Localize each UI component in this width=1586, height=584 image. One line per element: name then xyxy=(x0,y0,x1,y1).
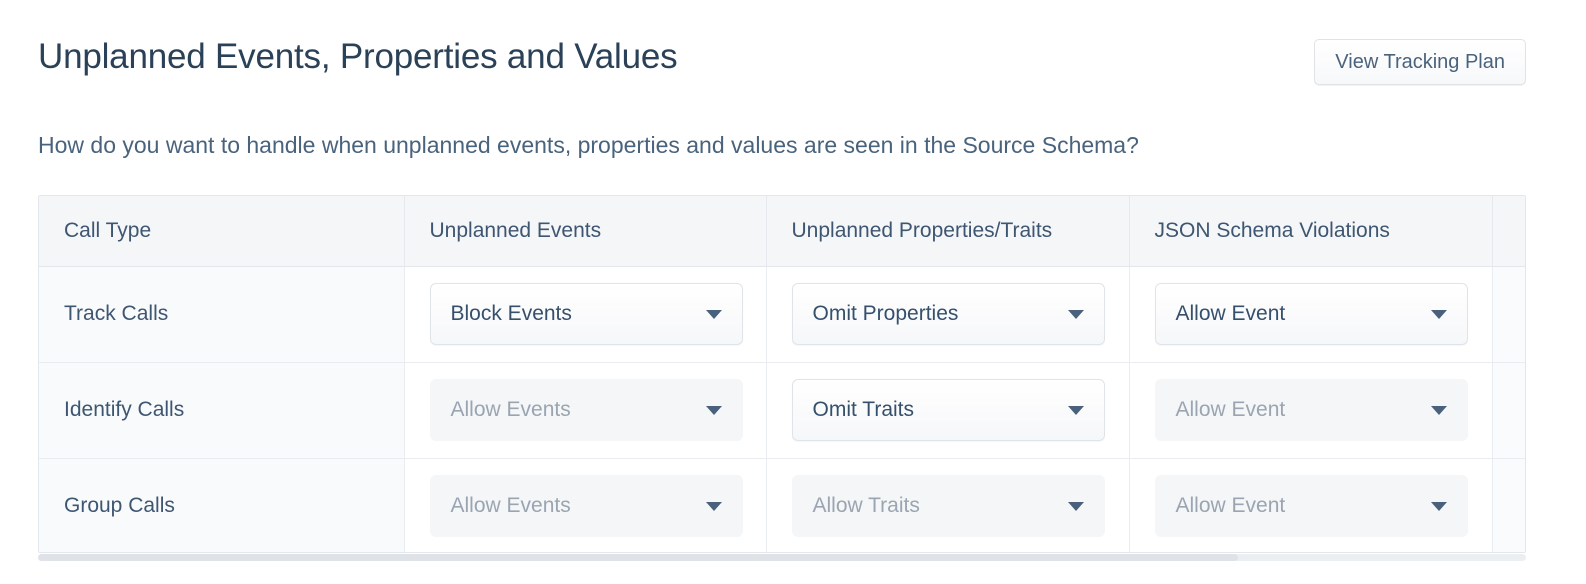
dropdown-track-unplanned-events[interactable]: Block Events xyxy=(430,283,743,345)
table-header: Call Type Unplanned Events Unplanned Pro… xyxy=(39,196,1525,266)
cell-identify-unplanned-properties: Omit Traits xyxy=(766,362,1129,458)
horizontal-scrollbar[interactable] xyxy=(38,554,1526,561)
cell-track-json-schema-violations: Allow Event xyxy=(1129,266,1492,362)
dropdown-identify-unplanned-properties[interactable]: Omit Traits xyxy=(792,379,1105,441)
table-row: Group Calls Allow Events Allow Traits xyxy=(39,458,1525,553)
dropdown-track-unplanned-properties[interactable]: Omit Properties xyxy=(792,283,1105,345)
cell-group-json-schema-violations: Allow Event xyxy=(1129,458,1492,553)
table-row: Identify Calls Allow Events Omit Traits xyxy=(39,362,1525,458)
table-row: Track Calls Block Events Omit Properties xyxy=(39,266,1525,362)
dropdown-track-json-schema-violations[interactable]: Allow Event xyxy=(1155,283,1468,345)
cell-spacer xyxy=(1492,362,1525,458)
dropdown-value: Allow Events xyxy=(451,494,571,518)
dropdown-identify-unplanned-events: Allow Events xyxy=(430,379,743,441)
cell-spacer xyxy=(1492,458,1525,553)
column-header-spacer xyxy=(1492,196,1525,266)
dropdown-value: Allow Event xyxy=(1176,302,1286,326)
page-title: Unplanned Events, Properties and Values xyxy=(38,34,677,80)
dropdown-value: Allow Traits xyxy=(813,494,920,518)
chevron-down-icon xyxy=(1068,310,1084,319)
cell-group-unplanned-properties: Allow Traits xyxy=(766,458,1129,553)
dropdown-value: Allow Event xyxy=(1176,398,1286,422)
chevron-down-icon xyxy=(1431,406,1447,415)
row-label-identify-calls: Identify Calls xyxy=(39,362,404,458)
row-label-track-calls: Track Calls xyxy=(39,266,404,362)
dropdown-value: Omit Properties xyxy=(813,302,959,326)
chevron-down-icon xyxy=(706,310,722,319)
chevron-down-icon xyxy=(1431,502,1447,511)
unplanned-events-settings-page: Unplanned Events, Properties and Values … xyxy=(0,0,1586,584)
page-header: Unplanned Events, Properties and Values … xyxy=(38,34,1526,96)
cell-track-unplanned-events: Block Events xyxy=(404,266,766,362)
chevron-down-icon xyxy=(1068,406,1084,415)
chevron-down-icon xyxy=(706,502,722,511)
dropdown-value: Allow Event xyxy=(1176,494,1286,518)
page-subtitle: How do you want to handle when unplanned… xyxy=(38,128,1139,162)
table-header-row: Call Type Unplanned Events Unplanned Pro… xyxy=(39,196,1525,266)
view-tracking-plan-button[interactable]: View Tracking Plan xyxy=(1314,39,1526,85)
column-header-call-type: Call Type xyxy=(39,196,404,266)
cell-identify-json-schema-violations: Allow Event xyxy=(1129,362,1492,458)
unplanned-handling-table: Call Type Unplanned Events Unplanned Pro… xyxy=(39,196,1525,553)
cell-track-unplanned-properties: Omit Properties xyxy=(766,266,1129,362)
row-label-group-calls: Group Calls xyxy=(39,458,404,553)
dropdown-identify-json-schema-violations: Allow Event xyxy=(1155,379,1468,441)
cell-group-unplanned-events: Allow Events xyxy=(404,458,766,553)
cell-identify-unplanned-events: Allow Events xyxy=(404,362,766,458)
dropdown-group-unplanned-properties: Allow Traits xyxy=(792,475,1105,537)
scrollbar-thumb[interactable] xyxy=(38,554,1238,561)
dropdown-group-json-schema-violations: Allow Event xyxy=(1155,475,1468,537)
chevron-down-icon xyxy=(1431,310,1447,319)
column-header-json-schema-violations: JSON Schema Violations xyxy=(1129,196,1492,266)
cell-spacer xyxy=(1492,266,1525,362)
chevron-down-icon xyxy=(1068,502,1084,511)
chevron-down-icon xyxy=(706,406,722,415)
table-body: Track Calls Block Events Omit Properties xyxy=(39,266,1525,553)
column-header-unplanned-properties-traits: Unplanned Properties/Traits xyxy=(766,196,1129,266)
dropdown-value: Allow Events xyxy=(451,398,571,422)
dropdown-value: Block Events xyxy=(451,302,572,326)
dropdown-value: Omit Traits xyxy=(813,398,915,422)
unplanned-handling-table-container: Call Type Unplanned Events Unplanned Pro… xyxy=(38,195,1526,553)
column-header-unplanned-events: Unplanned Events xyxy=(404,196,766,266)
dropdown-group-unplanned-events: Allow Events xyxy=(430,475,743,537)
